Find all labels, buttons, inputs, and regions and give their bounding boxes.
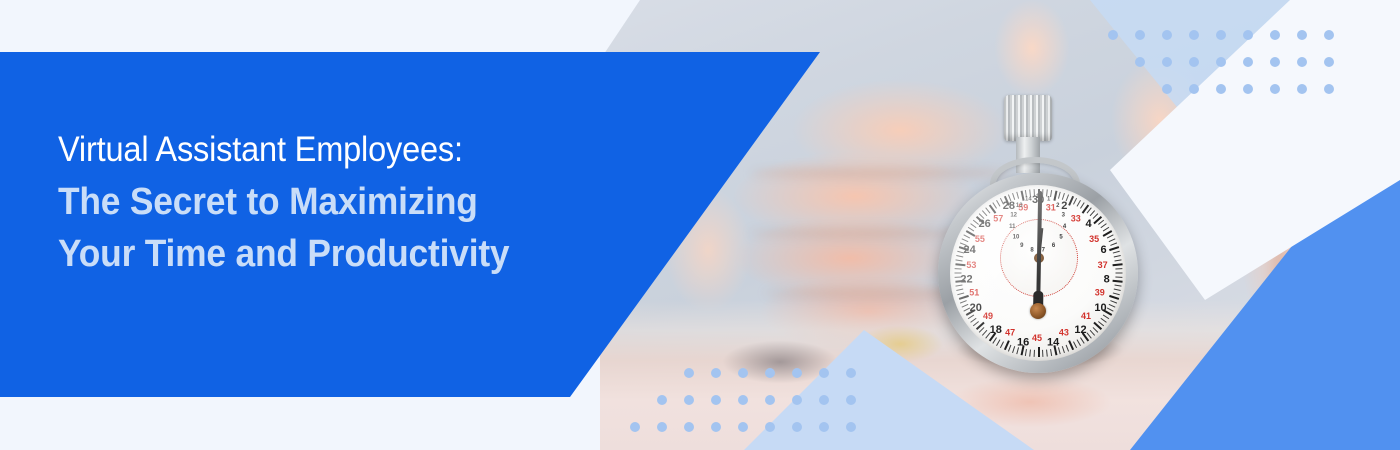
dial-number-black: 14: [1047, 337, 1059, 348]
subdial-number: 7: [1042, 247, 1045, 253]
decor-dot: [657, 395, 667, 405]
decor-dot: [1243, 84, 1253, 94]
dial-number-red: 41: [1081, 312, 1091, 321]
dial-number-black: 20: [970, 303, 982, 314]
decor-dot: [1270, 30, 1280, 40]
decor-dot: [765, 422, 775, 432]
subdial-number: 14: [1025, 196, 1032, 202]
subdial-number: 3: [1062, 213, 1065, 219]
headline-block: Virtual Assistant Employees: The Secret …: [58, 132, 678, 273]
decor-dot: [1108, 30, 1118, 40]
decor-dot: [738, 422, 748, 432]
dial-number-red: 39: [1095, 288, 1105, 297]
dial-number-red: 47: [1005, 328, 1015, 337]
subdial-number: 10: [1013, 235, 1020, 241]
dial-number-red: 45: [1032, 334, 1042, 343]
dial-number-black: 16: [1017, 337, 1029, 348]
subdial-number: 6: [1052, 243, 1055, 249]
subdial-number: 1: [1047, 196, 1050, 202]
subdial-number: 12: [1010, 213, 1017, 219]
dial-number-black: 24: [964, 245, 976, 256]
decor-dot: [711, 368, 721, 378]
decor-dot: [684, 395, 694, 405]
dial-number-red: 53: [966, 261, 976, 270]
subdial-number: 4: [1063, 224, 1066, 230]
decor-dot: [1216, 84, 1226, 94]
decor-dot: [1216, 57, 1226, 67]
dial-number-black: 18: [990, 325, 1002, 336]
decor-dot: [684, 368, 694, 378]
dial-number-black: 28: [1003, 201, 1015, 212]
decor-dot: [846, 368, 856, 378]
decor-dot: [1135, 30, 1145, 40]
decor-dot: [684, 422, 694, 432]
stopwatch-crown: [1004, 95, 1052, 141]
headline-line-2: The Secret to Maximizing: [58, 183, 635, 221]
dial-number-red: 31: [1046, 203, 1056, 212]
dial-number-black: 22: [960, 275, 972, 286]
decor-dot: [819, 422, 829, 432]
decor-dot: [657, 422, 667, 432]
dial-number-red: 43: [1059, 328, 1069, 337]
decor-dot: [711, 422, 721, 432]
decor-dot: [1162, 30, 1172, 40]
decor-dot: [1216, 30, 1226, 40]
subdial-number: 5: [1059, 235, 1062, 241]
stopwatch-center-pin: [1030, 303, 1046, 319]
headline-line-3: Your Time and Productivity: [58, 235, 635, 273]
decor-dot: [1297, 57, 1307, 67]
dial-number-red: 55: [975, 235, 985, 244]
decor-dot: [1162, 84, 1172, 94]
dial-number-red: 49: [983, 312, 993, 321]
decor-dot: [1189, 57, 1199, 67]
decor-dot: [792, 422, 802, 432]
headline-line-1: Virtual Assistant Employees:: [58, 132, 635, 167]
decor-dot: [792, 368, 802, 378]
subdial-number: 8: [1030, 247, 1033, 253]
subdial-number: 2: [1056, 203, 1059, 209]
decor-dot: [1243, 30, 1253, 40]
decor-dot: [630, 422, 640, 432]
decor-dot: [1324, 57, 1334, 67]
decor-dot: [765, 368, 775, 378]
decor-dot: [819, 368, 829, 378]
decor-dot: [1270, 57, 1280, 67]
decor-dot: [1135, 57, 1145, 67]
decor-dot: [792, 395, 802, 405]
decor-dot: [711, 395, 721, 405]
dial-number-black: 2: [1061, 201, 1067, 212]
decor-dot: [738, 395, 748, 405]
subdial-number: 11: [1009, 224, 1015, 230]
dial-number-black: 4: [1086, 219, 1092, 230]
decor-dot: [1270, 84, 1280, 94]
dial-number-black: 6: [1100, 245, 1106, 256]
banner-root: 3024681012141618202224262831333537394143…: [0, 0, 1400, 450]
decor-dot: [1324, 84, 1334, 94]
stopwatch-case: 3024681012141618202224262831333537394143…: [938, 173, 1138, 373]
decor-dot: [765, 395, 775, 405]
dial-number-red: 33: [1071, 215, 1081, 224]
stopwatch: 3024681012141618202224262831333537394143…: [938, 95, 1138, 345]
decor-dot: [846, 395, 856, 405]
decor-dot: [819, 395, 829, 405]
dial-number-black: 8: [1104, 275, 1110, 286]
subdial-number: 9: [1020, 243, 1023, 249]
dial-number-black: 12: [1074, 325, 1086, 336]
decor-dot: [1243, 57, 1253, 67]
stopwatch-dial: 3024681012141618202224262831333537394143…: [950, 185, 1126, 361]
dial-number-black: 26: [978, 219, 990, 230]
decor-dot: [1189, 84, 1199, 94]
subdial-number: 13: [1016, 203, 1023, 209]
dial-number-red: 37: [1098, 261, 1108, 270]
decor-dot: [846, 422, 856, 432]
dial-number-black: 10: [1094, 303, 1106, 314]
dial-number-red: 51: [969, 288, 979, 297]
decor-dot: [1324, 30, 1334, 40]
decor-dot: [1297, 30, 1307, 40]
decor-dot: [1189, 30, 1199, 40]
decor-dot: [738, 368, 748, 378]
decor-dot: [1297, 84, 1307, 94]
dial-number-red: 35: [1089, 235, 1099, 244]
decor-dot: [1162, 57, 1172, 67]
dial-number-red: 57: [993, 215, 1003, 224]
